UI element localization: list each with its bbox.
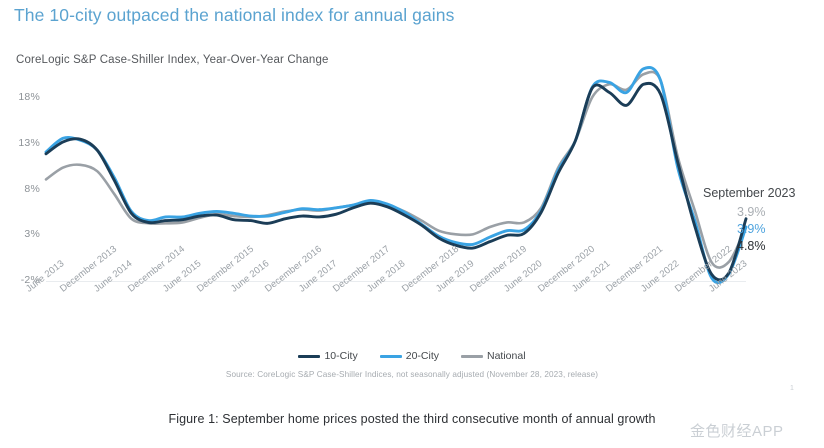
legend-swatch-icon	[461, 355, 483, 358]
screenshot-root: The 10-city outpaced the national index …	[0, 0, 824, 448]
y-axis-tick-label: 18%	[0, 91, 40, 103]
y-axis-tick-label: 3%	[0, 228, 40, 240]
annotation-20city-value: 3.9%	[737, 222, 766, 236]
annotation-national-value: 3.9%	[737, 205, 766, 219]
figure-caption: Figure 1: September home prices posted t…	[0, 412, 824, 426]
legend-item[interactable]: 20-City	[380, 350, 439, 362]
legend-item[interactable]: 10-City	[298, 350, 357, 362]
annotation-date-label: September 2023	[703, 186, 795, 200]
legend-item[interactable]: National	[461, 350, 526, 362]
source-note: Source: CoreLogic S&P Case-Shiller Indic…	[0, 370, 824, 379]
y-axis-tick-label: 8%	[0, 183, 40, 195]
series-line-10-city	[46, 83, 746, 280]
legend-swatch-icon	[298, 355, 320, 358]
chart-plot-area	[0, 0, 824, 400]
annotation-10city-value: 4.8%	[737, 239, 766, 253]
legend-label: 10-City	[324, 350, 357, 362]
page-number: 1	[790, 385, 794, 392]
y-axis-tick-label: 13%	[0, 137, 40, 149]
series-line-20-city	[46, 67, 746, 282]
chart-slide: The 10-city outpaced the national index …	[0, 0, 824, 400]
legend-swatch-icon	[380, 355, 402, 358]
line-chart-svg	[0, 0, 824, 400]
legend-label: 20-City	[406, 350, 439, 362]
series-line-national	[46, 72, 746, 268]
chart-legend: 10-City20-CityNational	[0, 350, 824, 362]
legend-label: National	[487, 350, 526, 362]
